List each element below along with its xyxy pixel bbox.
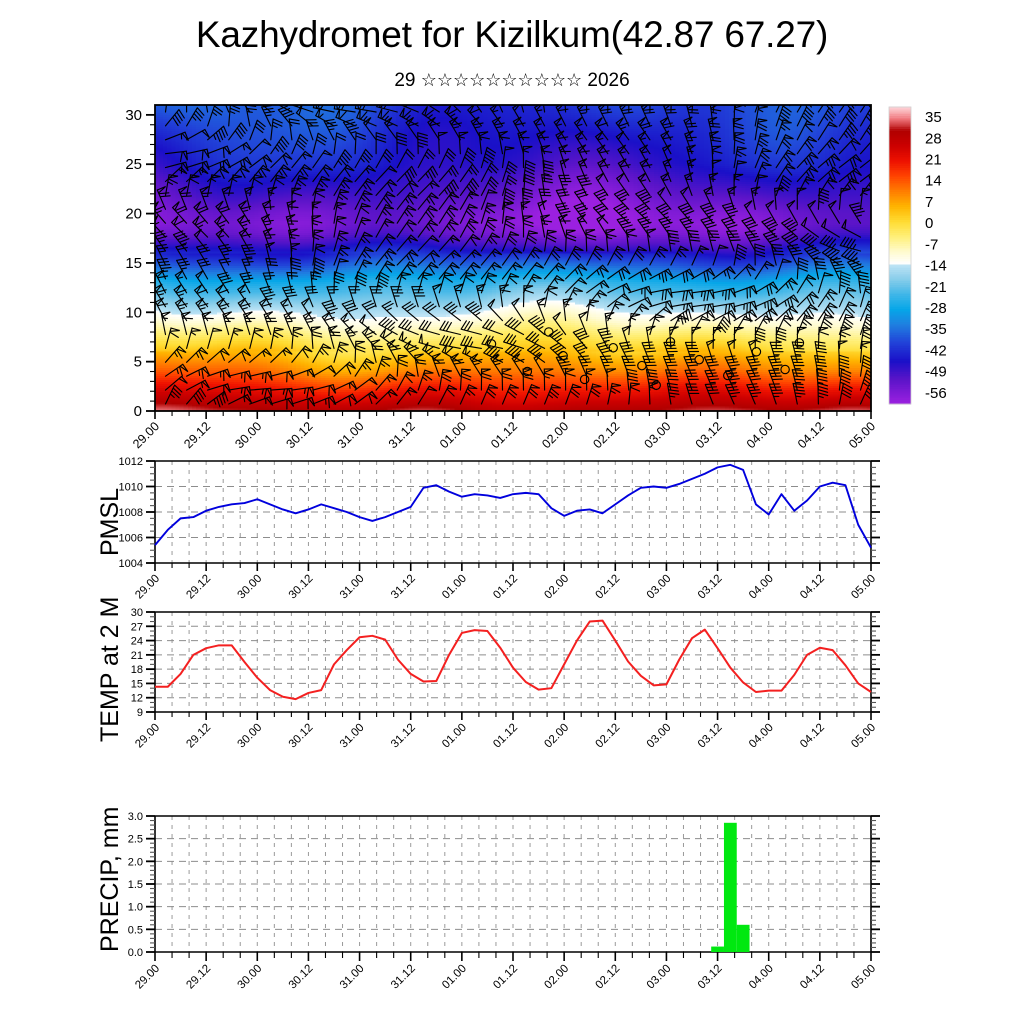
temperature-field [155, 105, 872, 412]
forecast-chart-page: Kazhydromet for Kizilkum(42.87 67.27) 29… [0, 0, 1024, 1024]
upper-air-panel: 05101520253029.0029.1230.0030.1231.0031.… [125, 89, 882, 451]
charts-canvas: 05101520253029.0029.1230.0030.1231.0031.… [0, 0, 1024, 1024]
